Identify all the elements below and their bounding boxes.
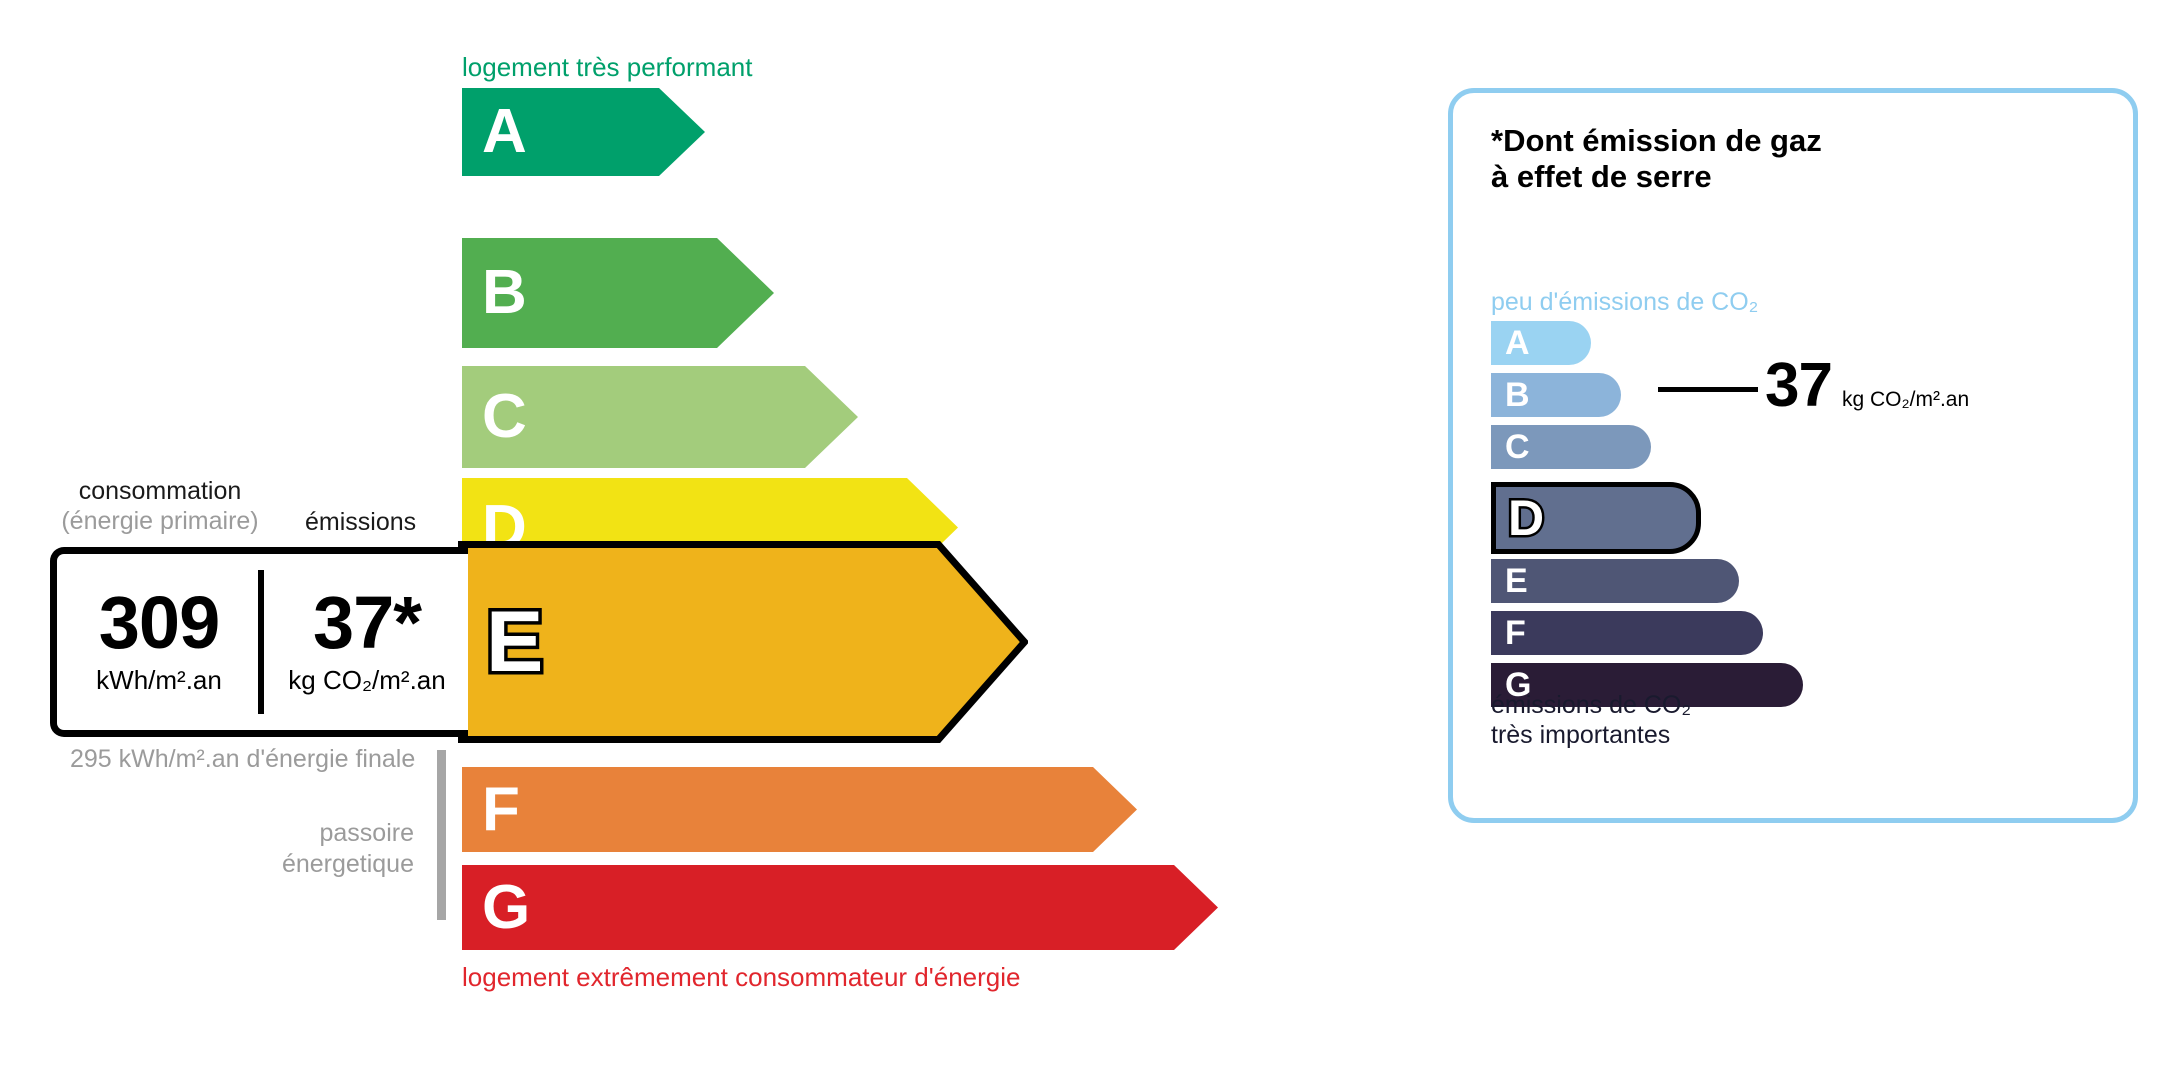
energy-class-letter-e: E — [486, 599, 543, 685]
co2-scale-bottom-label: émissions de CO₂ très importantes — [1491, 691, 1691, 750]
energy-class-row-c: C — [462, 366, 858, 468]
energy-class-row-g: G — [462, 865, 1218, 950]
emission-value-cell: 37* kg CO₂/m².an — [273, 554, 461, 730]
energy-class-letter-f: F — [482, 779, 520, 841]
co2-class-row-a: A — [1491, 321, 1591, 365]
energy-class-letter-b: B — [482, 262, 527, 324]
co2-panel-title: *Dont émission de gaz à effet de serre — [1491, 123, 1822, 195]
energy-performance-panel: logement très performant ABCDEFG logemen… — [0, 0, 1400, 1079]
co2-class-letter-a: A — [1505, 326, 1530, 360]
energy-arrow-body — [462, 767, 1093, 852]
passoire-energetique-note: passoire énergetique — [190, 818, 414, 879]
co2-value-callout: 37 kg CO₂/m².an — [1765, 355, 1969, 417]
emission-unit: kg CO₂/m².an — [288, 665, 445, 696]
energy-arrow-shape — [462, 767, 1137, 852]
final-energy-note: 295 kWh/m².an d'énergie finale — [70, 744, 415, 775]
co2-emissions-panel: *Dont émission de gaz à effet de serre p… — [1448, 88, 2138, 823]
co2-class-letter-b: B — [1505, 378, 1530, 412]
co2-class-row-b: B — [1491, 373, 1621, 417]
energy-scale-bottom-label: logement extrêmement consommateur d'éner… — [462, 962, 1020, 993]
emissions-label: émissions — [305, 508, 416, 537]
energy-class-row-f: F — [462, 767, 1137, 852]
energy-arrow-head — [1174, 865, 1218, 950]
energy-arrow-head — [717, 238, 774, 348]
consumption-unit: kWh/m².an — [96, 665, 222, 696]
co2-class-letter-d: D — [1508, 493, 1544, 543]
energy-current-arrow-shape — [458, 541, 1028, 743]
consumption-label: consommation (énergie primaire) — [60, 477, 260, 536]
energy-arrow-head — [805, 366, 858, 468]
energy-class-row-e: E — [462, 545, 1024, 739]
value-box-divider — [258, 570, 264, 714]
value-box: 309 kWh/m².an 37* kg CO₂/m².an — [50, 547, 468, 737]
consumption-label-main: consommation — [79, 477, 242, 505]
energy-class-row-b: B — [462, 238, 774, 348]
energy-class-row-a: A — [462, 88, 705, 176]
co2-scale-top-label: peu d'émissions de CO₂ — [1491, 288, 1758, 317]
co2-class-letter-f: F — [1505, 616, 1526, 650]
co2-class-row-c: C — [1491, 425, 1651, 469]
passoire-energetique-bracket — [437, 750, 446, 920]
energy-arrow-shape — [462, 865, 1218, 950]
energy-class-letter-c: C — [482, 386, 527, 448]
energy-arrow-body — [462, 865, 1174, 950]
co2-class-row-d: D — [1491, 482, 1701, 554]
consumption-label-sub: (énergie primaire) — [60, 507, 260, 537]
co2-class-letter-c: C — [1505, 430, 1530, 464]
co2-leader-line — [1658, 387, 1758, 392]
co2-value-unit: kg CO₂/m².an — [1842, 388, 1969, 412]
energy-arrow-head — [659, 88, 705, 176]
energy-class-letter-g: G — [482, 877, 530, 939]
co2-class-row-e: E — [1491, 559, 1739, 603]
energy-class-letter-a: A — [482, 101, 527, 163]
energy-scale-top-label: logement très performant — [462, 52, 752, 83]
co2-class-letter-e: E — [1505, 564, 1528, 598]
energy-arrow-head — [1093, 767, 1137, 852]
consumption-value-cell: 309 kWh/m².an — [65, 554, 253, 730]
emission-value: 37* — [313, 588, 421, 658]
co2-value-number: 37 — [1765, 355, 1832, 417]
co2-class-row-f: F — [1491, 611, 1763, 655]
consumption-value: 309 — [99, 588, 219, 658]
